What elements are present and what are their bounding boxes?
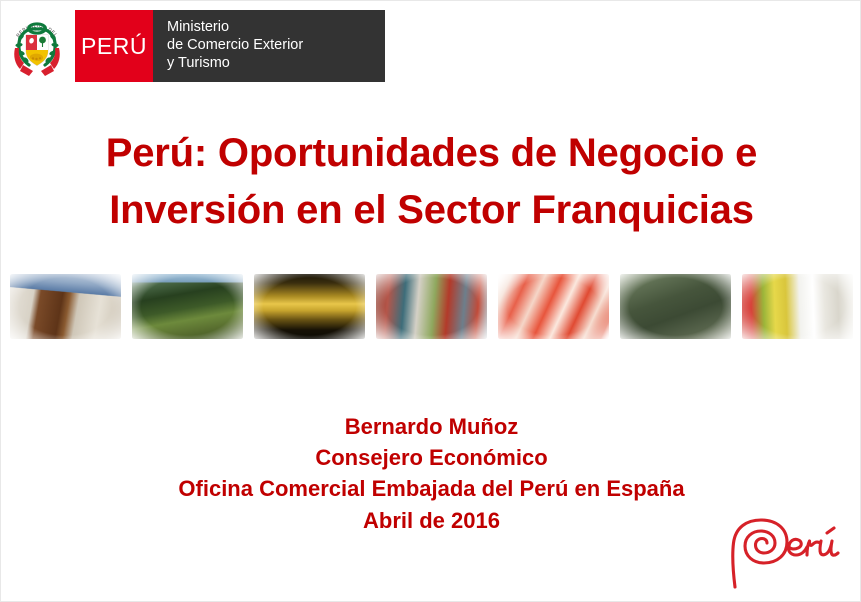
presenter-name: Bernardo Muñoz xyxy=(1,411,861,442)
presenter-office: Oficina Comercial Embajada del Perú en E… xyxy=(1,473,861,504)
peru-coat-of-arms-icon: REPUBLICA DEL PERU xyxy=(9,10,65,82)
presentation-slide: REPUBLICA DEL PERU xyxy=(0,0,861,602)
title-line-2: Inversión en el Sector Franquicias xyxy=(1,182,861,239)
peru-brand-box: PERÚ xyxy=(75,10,153,82)
photo-flowers-asparagus xyxy=(739,269,856,345)
photo-port-containers xyxy=(373,269,490,345)
ministry-line-1: Ministerio xyxy=(167,19,375,37)
presenter-role: Consejero Económico xyxy=(1,442,861,473)
peru-wordmark: PERÚ xyxy=(81,33,147,60)
photo-seafood-fish xyxy=(495,269,612,345)
photo-machu-picchu xyxy=(129,269,246,345)
marca-peru-logo xyxy=(719,513,853,593)
slide-title: Perú: Oportunidades de Negocio e Inversi… xyxy=(1,125,861,239)
mincetur-logo-lockup: REPUBLICA DEL PERU xyxy=(9,10,385,82)
photo-colonial-balconies-lima xyxy=(7,269,124,345)
photo-strip xyxy=(7,269,856,345)
ministry-name-box: Ministerio de Comercio Exterior y Turism… xyxy=(153,10,385,82)
title-line-1: Perú: Oportunidades de Negocio e xyxy=(1,125,861,182)
photo-andean-farmers xyxy=(617,269,734,345)
photo-amazon-river-sunset xyxy=(251,269,368,345)
ministry-line-2: de Comercio Exterior xyxy=(167,37,375,55)
ministry-line-3: y Turismo xyxy=(167,55,375,73)
